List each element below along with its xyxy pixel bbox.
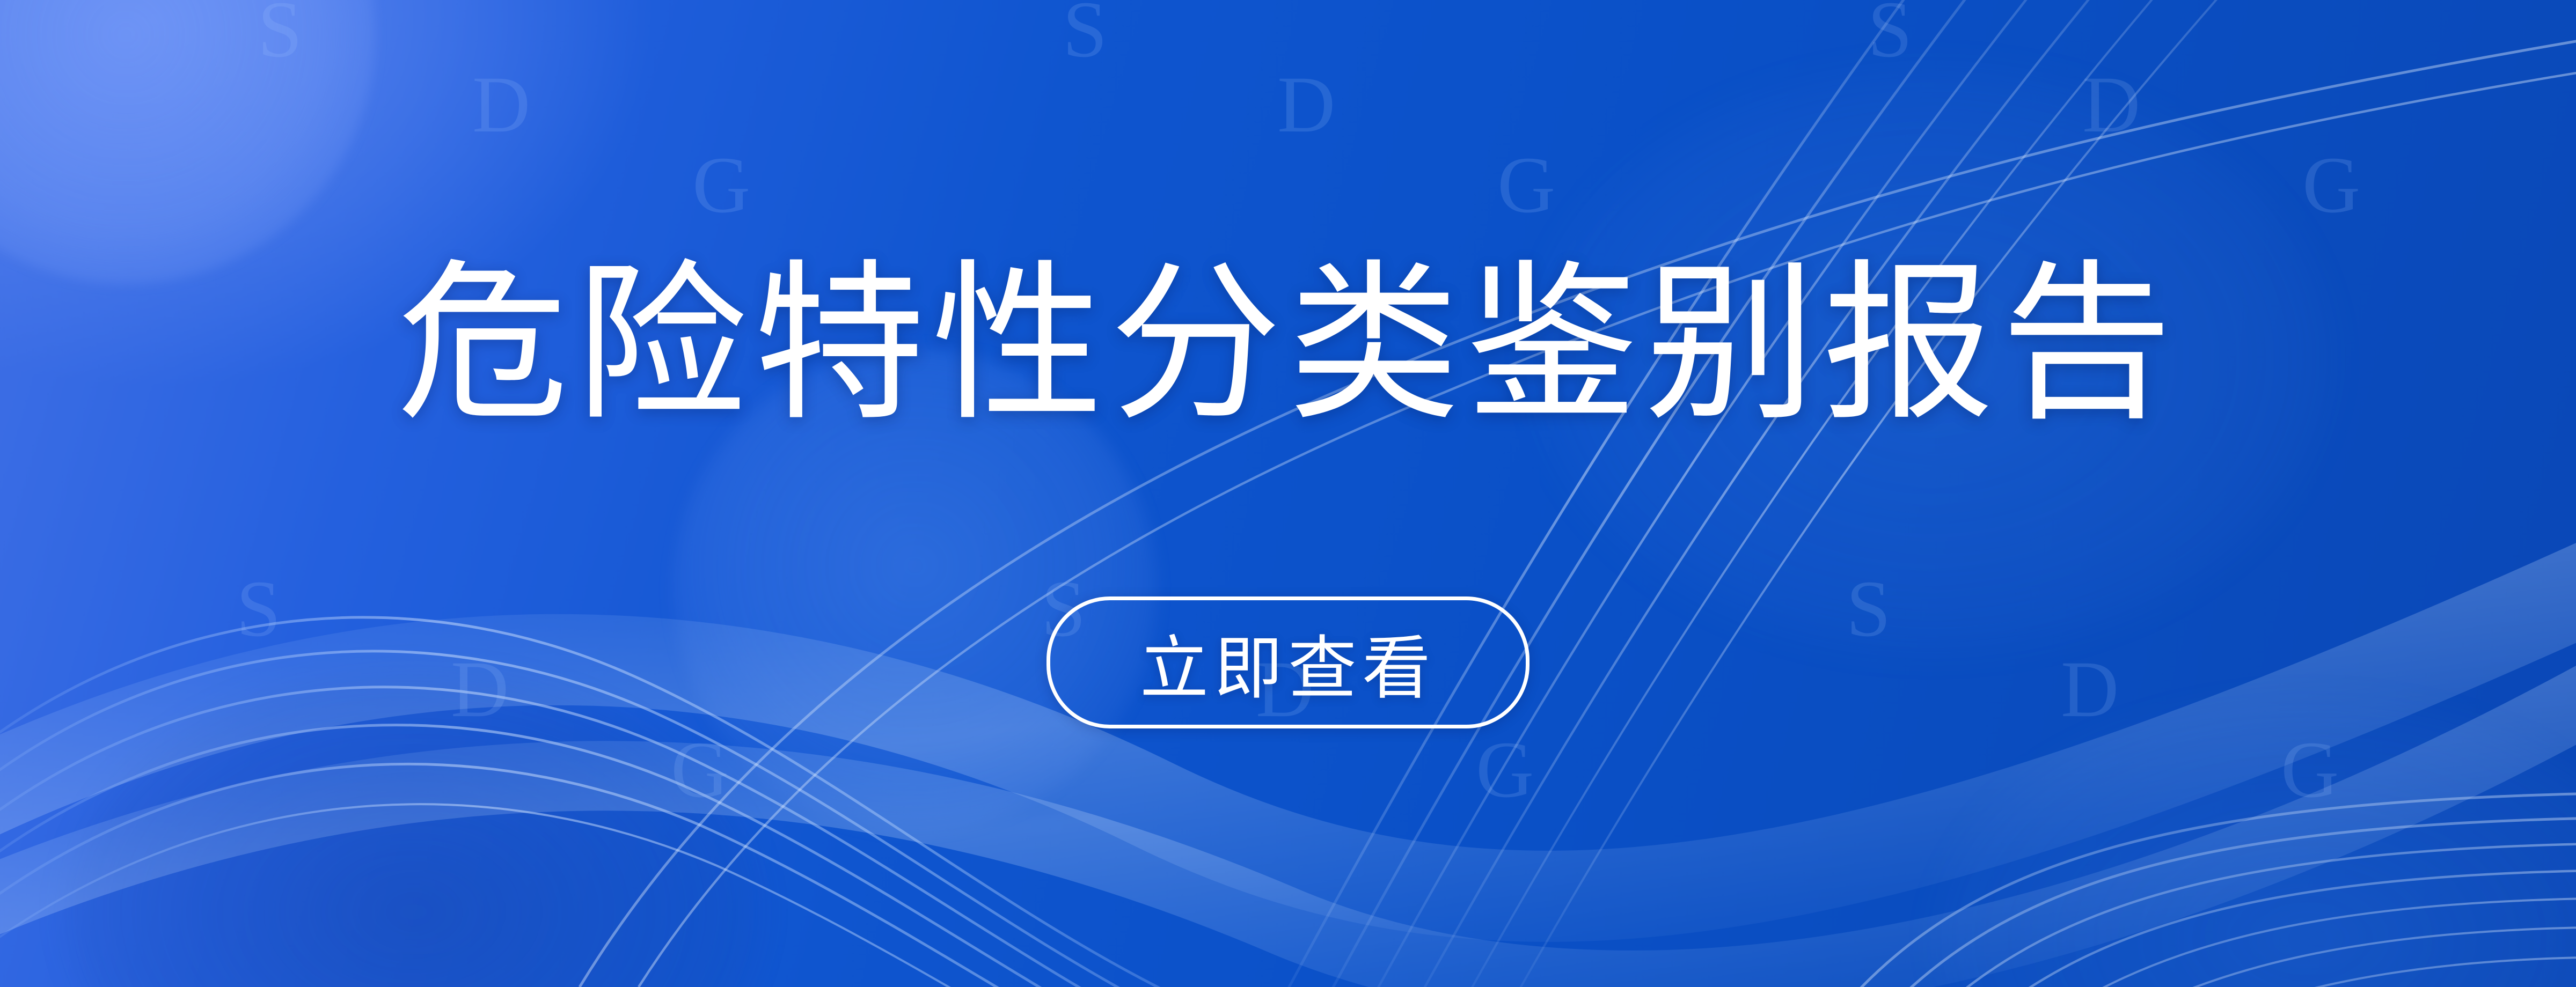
view-now-button[interactable]: 立即查看 (1046, 596, 1529, 728)
banner-title: 危险特性分类鉴别报告 (397, 252, 2179, 438)
promo-banner: SDGSDGSDGSDGSDGSDG 危险特性分类鉴别报告 立即查看 (0, 0, 2576, 987)
view-now-button-label: 立即查看 (1140, 613, 1436, 712)
banner-content: 危险特性分类鉴别报告 立即查看 (0, 0, 2576, 987)
